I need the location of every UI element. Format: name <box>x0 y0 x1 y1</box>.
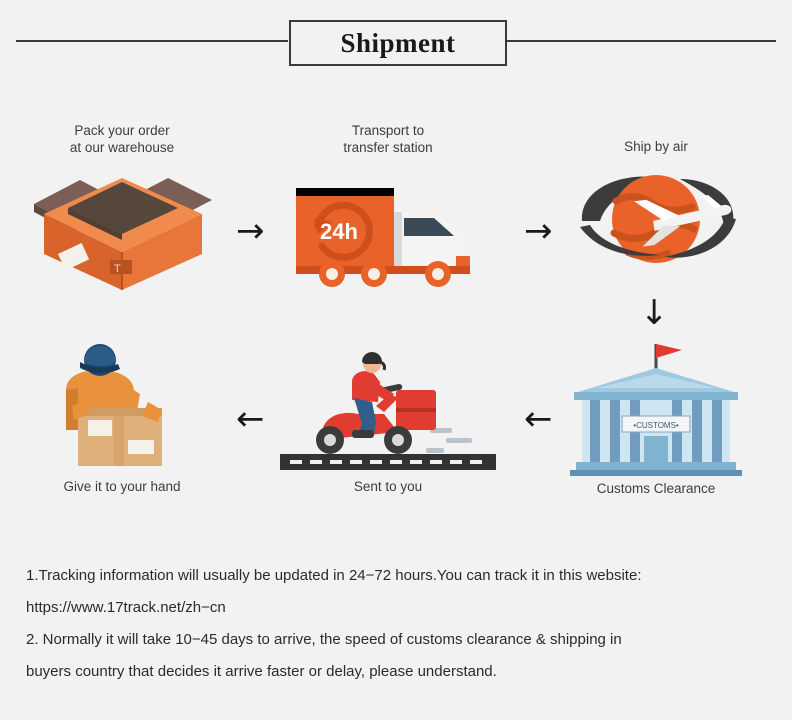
header-rule-right <box>504 40 776 42</box>
step-pack-caption: Pack your order at our warehouse <box>22 122 222 156</box>
delivery-truck-24h-icon: 24h <box>288 160 488 290</box>
arrow-pack-to-transport: → <box>236 214 265 248</box>
step-customs: •CUSTOMS• Customs Clearance <box>556 336 756 497</box>
svg-text:T: T <box>114 263 121 275</box>
customs-building-icon: •CUSTOMS• <box>556 336 756 476</box>
note-line-1: 1.Tracking information will usually be u… <box>26 560 776 592</box>
arrow-air-to-customs: ↓ <box>640 296 669 330</box>
step-pack: Pack your order at our warehouse T <box>22 122 222 292</box>
customs-sign-label: •CUSTOMS• <box>633 421 679 430</box>
footer-notes: 1.Tracking information will usually be u… <box>26 560 776 688</box>
scooter-courier-icon <box>280 336 496 476</box>
delivery-man-parcel-icon <box>22 336 222 476</box>
note-line-2: https://www.17track.net/zh−cn <box>26 592 776 624</box>
cardboard-box-icon: T <box>22 162 222 292</box>
globe-airplane-icon <box>556 157 756 277</box>
arrow-courier-to-hand: ← <box>236 402 265 436</box>
header-rule-left <box>16 40 288 42</box>
step-air: Ship by air <box>556 122 756 277</box>
arrow-customs-to-courier: ← <box>524 402 553 436</box>
note-line-4: buyers country that decides it arrive fa… <box>26 656 776 688</box>
step-delivered: Give it to your hand <box>22 336 222 495</box>
step-courier: Sent to you <box>280 336 496 495</box>
title-box: Shipment <box>289 20 507 66</box>
step-air-caption: Ship by air <box>556 138 756 155</box>
page-title: Shipment <box>340 28 455 59</box>
step-transport: Transport to transfer station 24h <box>288 122 488 290</box>
step-transport-caption: Transport to transfer station <box>288 122 488 156</box>
step-customs-caption: Customs Clearance <box>556 480 756 497</box>
note-line-3: 2. Normally it will take 10−45 days to a… <box>26 624 776 656</box>
page-header: Shipment <box>0 20 792 62</box>
step-courier-caption: Sent to you <box>280 478 496 495</box>
arrow-transport-to-air: → <box>524 214 553 248</box>
truck-24h-badge: 24h <box>320 219 358 244</box>
step-delivered-caption: Give it to your hand <box>22 478 222 495</box>
